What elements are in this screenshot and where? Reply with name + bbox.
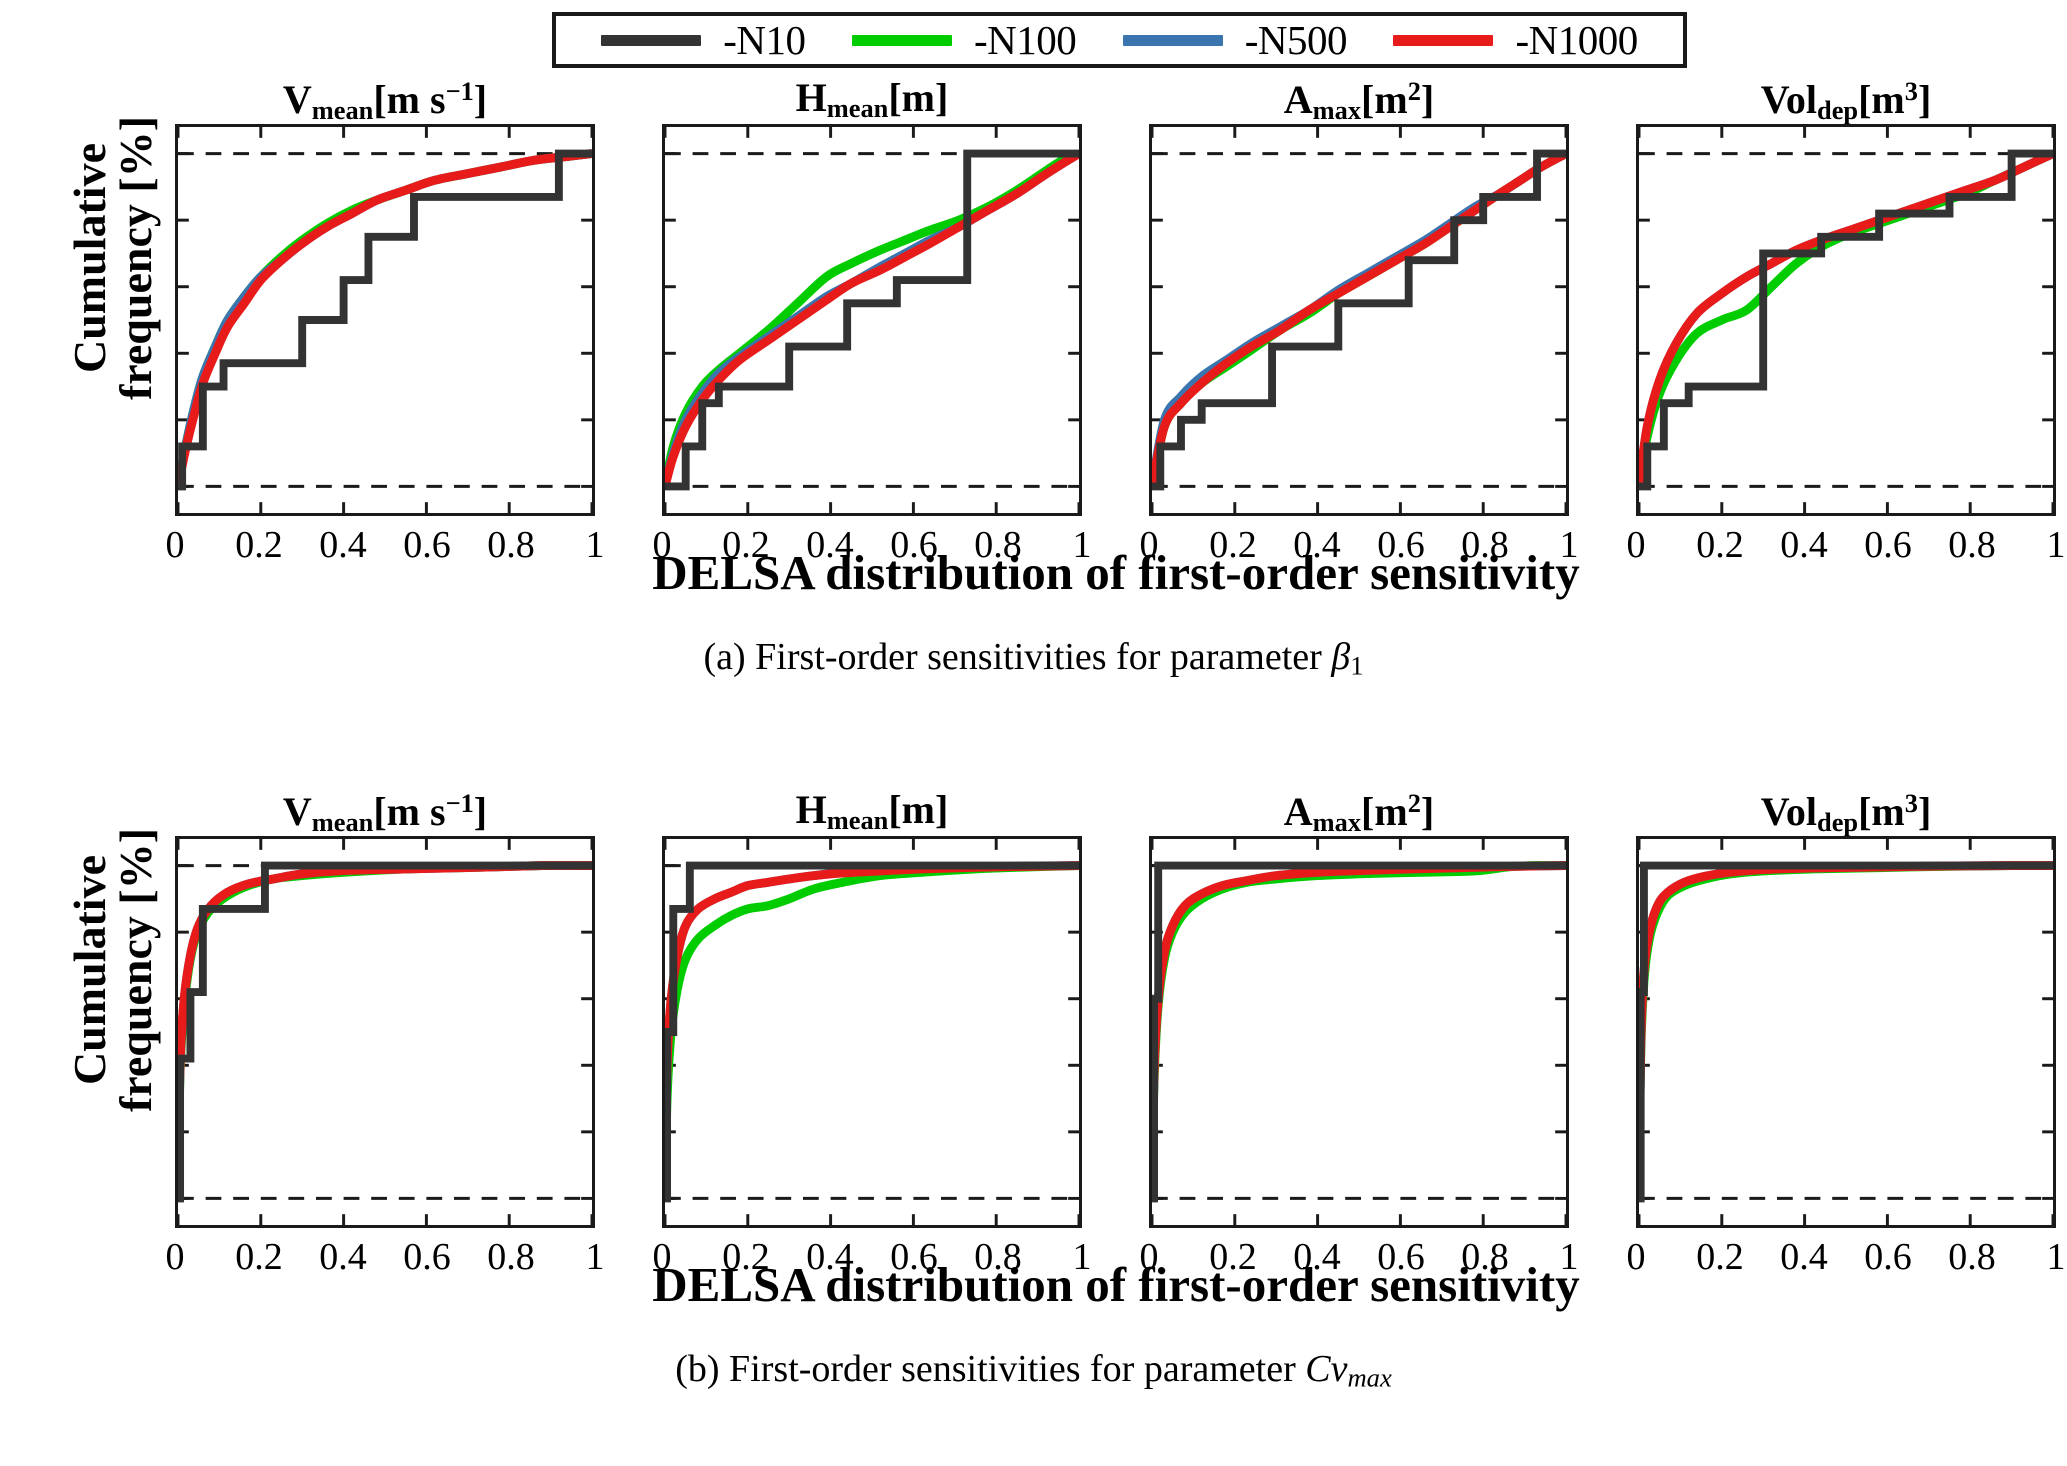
panel-b-4: Voldep[m3]00.20.40.60.81 bbox=[1636, 836, 2056, 1228]
caption-a-text: (a) First-order sensitivities for parame… bbox=[703, 636, 1363, 678]
plot-area-b-4 bbox=[1636, 836, 2056, 1228]
y-axis-label-b-line2: frequency [%] bbox=[113, 755, 159, 1185]
y-axis-label-b-line1: Cumulative bbox=[67, 755, 113, 1185]
plot-area-a-4 bbox=[1636, 124, 2056, 516]
caption-b: (b) First-order sensitivities for parame… bbox=[0, 1350, 2067, 1391]
legend-swatch-n100 bbox=[852, 35, 952, 46]
legend: -N10 -N100 -N500 -N1000 bbox=[552, 12, 1687, 68]
plot-area-a-1 bbox=[175, 124, 595, 516]
panel-title-b-2: Hmean[m] bbox=[662, 790, 1082, 833]
panel-a-1: Vmean[m s−1]00.20.40.60.81 bbox=[175, 124, 595, 516]
panel-title-b-3: Amax[m2] bbox=[1149, 790, 1569, 835]
panel-title-a-3: Amax[m2] bbox=[1149, 78, 1569, 123]
panel-a-3: Amax[m2]00.20.40.60.81 bbox=[1149, 124, 1569, 516]
x-axis-label-a: DELSA distribution of first-order sensit… bbox=[175, 548, 2057, 597]
panel-a-2: Hmean[m]00.20.40.60.81 bbox=[662, 124, 1082, 516]
legend-item-n100: -N100 bbox=[852, 20, 1076, 61]
panel-b-3: Amax[m2]00.20.40.60.81 bbox=[1149, 836, 1569, 1228]
legend-item-n1000: -N1000 bbox=[1393, 20, 1637, 61]
y-axis-label-a-line2: frequency [%] bbox=[113, 43, 159, 473]
caption-b-text: (b) First-order sensitivities for parame… bbox=[675, 1348, 1392, 1390]
panels-b: Vmean[m s−1]00.20.40.60.81Hmean[m]00.20.… bbox=[175, 790, 2057, 1260]
legend-item-n10: -N10 bbox=[601, 20, 805, 61]
plot-area-b-2 bbox=[662, 836, 1082, 1228]
legend-label-n500: -N500 bbox=[1245, 20, 1347, 61]
subfigure-b: Cumulative frequency [%] 100806040200 Vm… bbox=[0, 790, 2067, 1430]
panel-title-b-1: Vmean[m s−1] bbox=[175, 790, 595, 835]
caption-a: (a) First-order sensitivities for parame… bbox=[0, 638, 2067, 679]
legend-label-n100: -N100 bbox=[974, 20, 1076, 61]
subfigure-a: Cumulative frequency [%] 100806040200 Vm… bbox=[0, 78, 2067, 718]
plot-area-b-3 bbox=[1149, 836, 1569, 1228]
legend-swatch-n10 bbox=[601, 35, 701, 46]
panel-b-1: Vmean[m s−1]00.20.40.60.81 bbox=[175, 836, 595, 1228]
figure-root: -N10 -N100 -N500 -N1000 Cumulative frequ… bbox=[0, 0, 2067, 1466]
panel-title-a-1: Vmean[m s−1] bbox=[175, 78, 595, 123]
y-axis-label-a: Cumulative frequency [%] bbox=[67, 43, 127, 473]
panels-a: Vmean[m s−1]00.20.40.60.81Hmean[m]00.20.… bbox=[175, 78, 2057, 548]
legend-swatch-n500 bbox=[1123, 35, 1223, 46]
x-axis-label-b: DELSA distribution of first-order sensit… bbox=[175, 1260, 2057, 1309]
plot-area-a-3 bbox=[1149, 124, 1569, 516]
y-axis-label-b: Cumulative frequency [%] bbox=[67, 755, 127, 1185]
y-axis-label-a-line1: Cumulative bbox=[67, 43, 113, 473]
panel-title-a-2: Hmean[m] bbox=[662, 78, 1082, 121]
plot-area-a-2 bbox=[662, 124, 1082, 516]
panel-a-4: Voldep[m3]00.20.40.60.81 bbox=[1636, 124, 2056, 516]
panel-title-b-4: Voldep[m3] bbox=[1636, 790, 2056, 835]
legend-label-n1000: -N1000 bbox=[1515, 20, 1637, 61]
panel-title-a-4: Voldep[m3] bbox=[1636, 78, 2056, 123]
legend-label-n10: -N10 bbox=[723, 20, 805, 61]
legend-swatch-n1000 bbox=[1393, 35, 1493, 46]
plot-area-b-1 bbox=[175, 836, 595, 1228]
panel-b-2: Hmean[m]00.20.40.60.81 bbox=[662, 836, 1082, 1228]
legend-item-n500: -N500 bbox=[1123, 20, 1347, 61]
